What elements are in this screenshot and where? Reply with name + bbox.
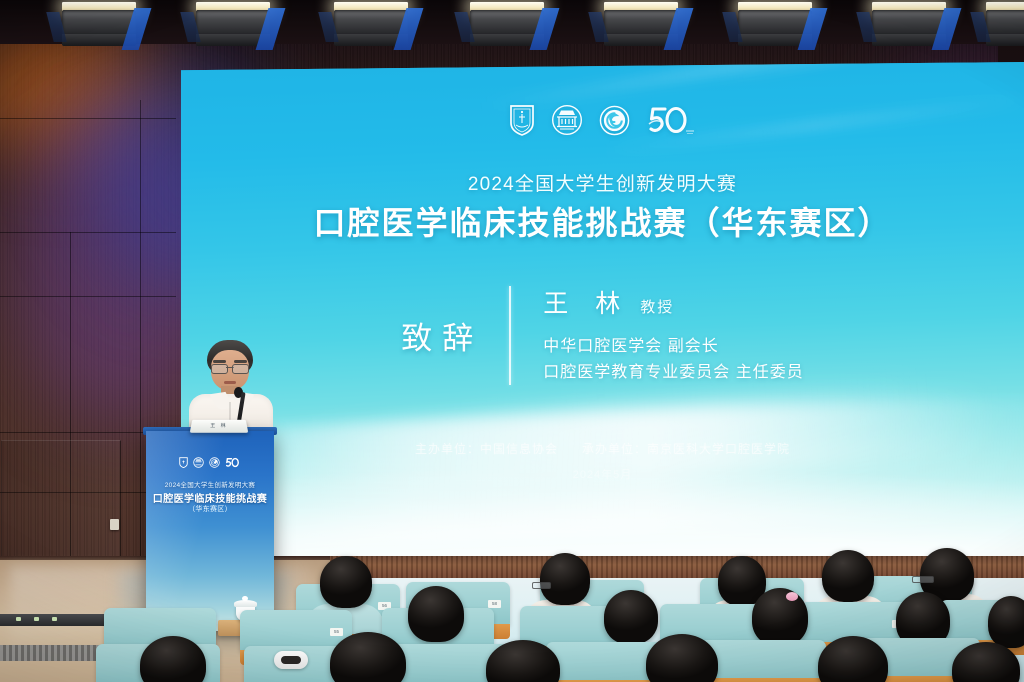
wall-power-outlet — [110, 519, 119, 530]
ceiling-lighting-truss — [0, 0, 1024, 44]
slide-speaker-block: 致辞 王 林教授 中华口腔医学会 副会长 口腔医学教育专业委员会 主任委员 — [181, 284, 1024, 387]
teacup-lid — [234, 600, 257, 607]
slide-logo-row — [181, 104, 1024, 141]
speaker-eyebrow — [234, 360, 247, 363]
seat-number-tag: 58 — [488, 600, 501, 608]
audience-head — [988, 596, 1024, 648]
slide-content: 2024全国大学生创新发明大赛 口腔医学临床技能挑战赛（华东赛区） 致辞 王 林… — [181, 62, 1024, 574]
wall-panel-seam — [0, 296, 176, 297]
slide-section-label: 致辞 — [401, 313, 509, 358]
slide-footer-host: 主办单位：中国信息协会 — [415, 442, 558, 456]
wall-panel-seam — [0, 232, 176, 233]
slide-speaker-details: 王 林教授 中华口腔医学会 副会长 口腔医学教育专业委员会 主任委员 — [511, 284, 803, 387]
podium-nameplate: 王 林 — [190, 420, 249, 433]
slide-affiliation-line-2: 口腔医学教育专业委员会 主任委员 — [543, 360, 803, 386]
audience-eyeglasses — [912, 576, 934, 583]
auditorium-seat[interactable] — [700, 640, 826, 680]
campus-gate-emblem-logo — [551, 104, 583, 141]
audience-eyeglasses — [532, 582, 551, 589]
projection-screen: 2024全国大学生创新发明大赛 口腔医学临床技能挑战赛（华东赛区） 致辞 王 林… — [181, 62, 1024, 574]
slide-speaker-name: 王 林 — [543, 284, 630, 320]
wall-panel-seam — [140, 100, 141, 560]
face-mask-inner — [281, 656, 301, 664]
podium-nameplate-text: 王 林 — [190, 422, 247, 428]
university-shield-crest-logo — [509, 104, 535, 141]
slide-footer-date: 2024年5月 — [181, 466, 1024, 482]
slide-footer-organizations: 主办单位：中国信息协会承办单位：南京医科大学口腔医学院 — [181, 440, 1024, 457]
stage-side-door[interactable] — [1, 440, 121, 567]
cable-tray-led — [34, 617, 39, 621]
speaker-eyebrow — [213, 360, 226, 363]
photograph-scene: 2024全国大学生创新发明大赛 口腔医学临床技能挑战赛（华东赛区） 致辞 王 林… — [0, 0, 1024, 682]
slide-speaker-rank: 教授 — [640, 299, 674, 316]
wall-panel-seam — [0, 118, 176, 119]
slide-footer-organizer: 承办单位：南京医科大学口腔医学院 — [582, 442, 790, 456]
fiftieth-anniversary-logo — [646, 104, 696, 141]
audience-head — [752, 588, 808, 646]
cable-tray-led — [16, 617, 21, 621]
cable-tray-led — [52, 617, 57, 621]
slide-main-title: 口腔医学临床技能挑战赛（华东赛区） — [181, 198, 1024, 244]
speaker-mouth — [224, 381, 236, 384]
slide-affiliation-line-1: 中华口腔医学会 副会长 — [543, 334, 803, 360]
audience-head — [822, 550, 874, 602]
teacup-knob — [242, 596, 248, 601]
slide-eyebrow-text: 2024全国大学生创新发明大赛 — [181, 169, 1024, 196]
seat-number-tag: 55 — [330, 628, 343, 636]
audience-head — [604, 590, 658, 644]
spiral-circle-association-logo — [599, 105, 630, 141]
pink-hair-clip — [786, 592, 798, 601]
audience-head — [408, 586, 464, 642]
speaker-eyeglasses — [211, 364, 249, 372]
audience-head — [540, 553, 590, 605]
audience-head — [320, 556, 372, 608]
